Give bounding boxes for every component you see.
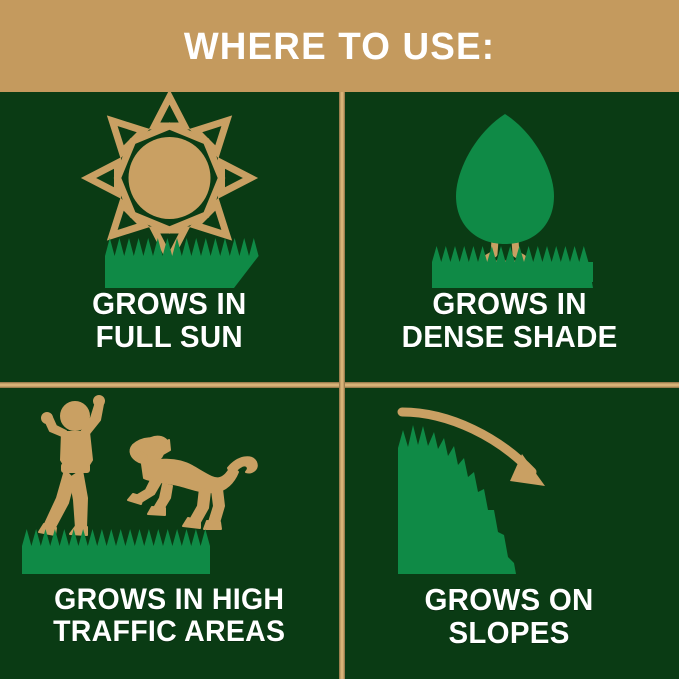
- sloped-grass-arrow-icon: [340, 388, 679, 574]
- caption-full-sun: GROWS IN FULL SUN: [92, 288, 246, 354]
- divider-vertical: [339, 92, 345, 679]
- where-to-use-infographic: WHERE TO USE:: [0, 0, 679, 679]
- caption-dense-shade: GROWS IN DENSE SHADE: [402, 288, 618, 354]
- header-banner: WHERE TO USE:: [0, 0, 679, 92]
- grass-strip-full-sun: [105, 238, 259, 288]
- grass-strip-high-traffic: [22, 529, 210, 574]
- feature-cell-slopes: GROWS ON SLOPES: [340, 388, 679, 679]
- page-title: WHERE TO USE:: [184, 28, 495, 66]
- person-and-dog-icon: [0, 388, 339, 574]
- sun-icon: [0, 92, 339, 288]
- caption-slopes: GROWS ON SLOPES: [425, 584, 594, 650]
- feature-grid: GROWS IN FULL SUN GROWS IN DENSE SHADE: [0, 92, 679, 679]
- feature-cell-full-sun: GROWS IN FULL SUN: [0, 92, 339, 383]
- icon-zone-high-traffic: [0, 388, 339, 584]
- icon-zone-slopes: [340, 388, 679, 584]
- icon-zone-full-sun: [0, 92, 339, 288]
- icon-zone-dense-shade: [340, 92, 679, 288]
- caption-high-traffic: GROWS IN HIGH TRAFFIC AREAS: [53, 584, 285, 648]
- feature-cell-high-traffic: GROWS IN HIGH TRAFFIC AREAS: [0, 388, 339, 679]
- feature-cell-dense-shade: GROWS IN DENSE SHADE: [340, 92, 679, 383]
- tree-icon: [340, 92, 679, 288]
